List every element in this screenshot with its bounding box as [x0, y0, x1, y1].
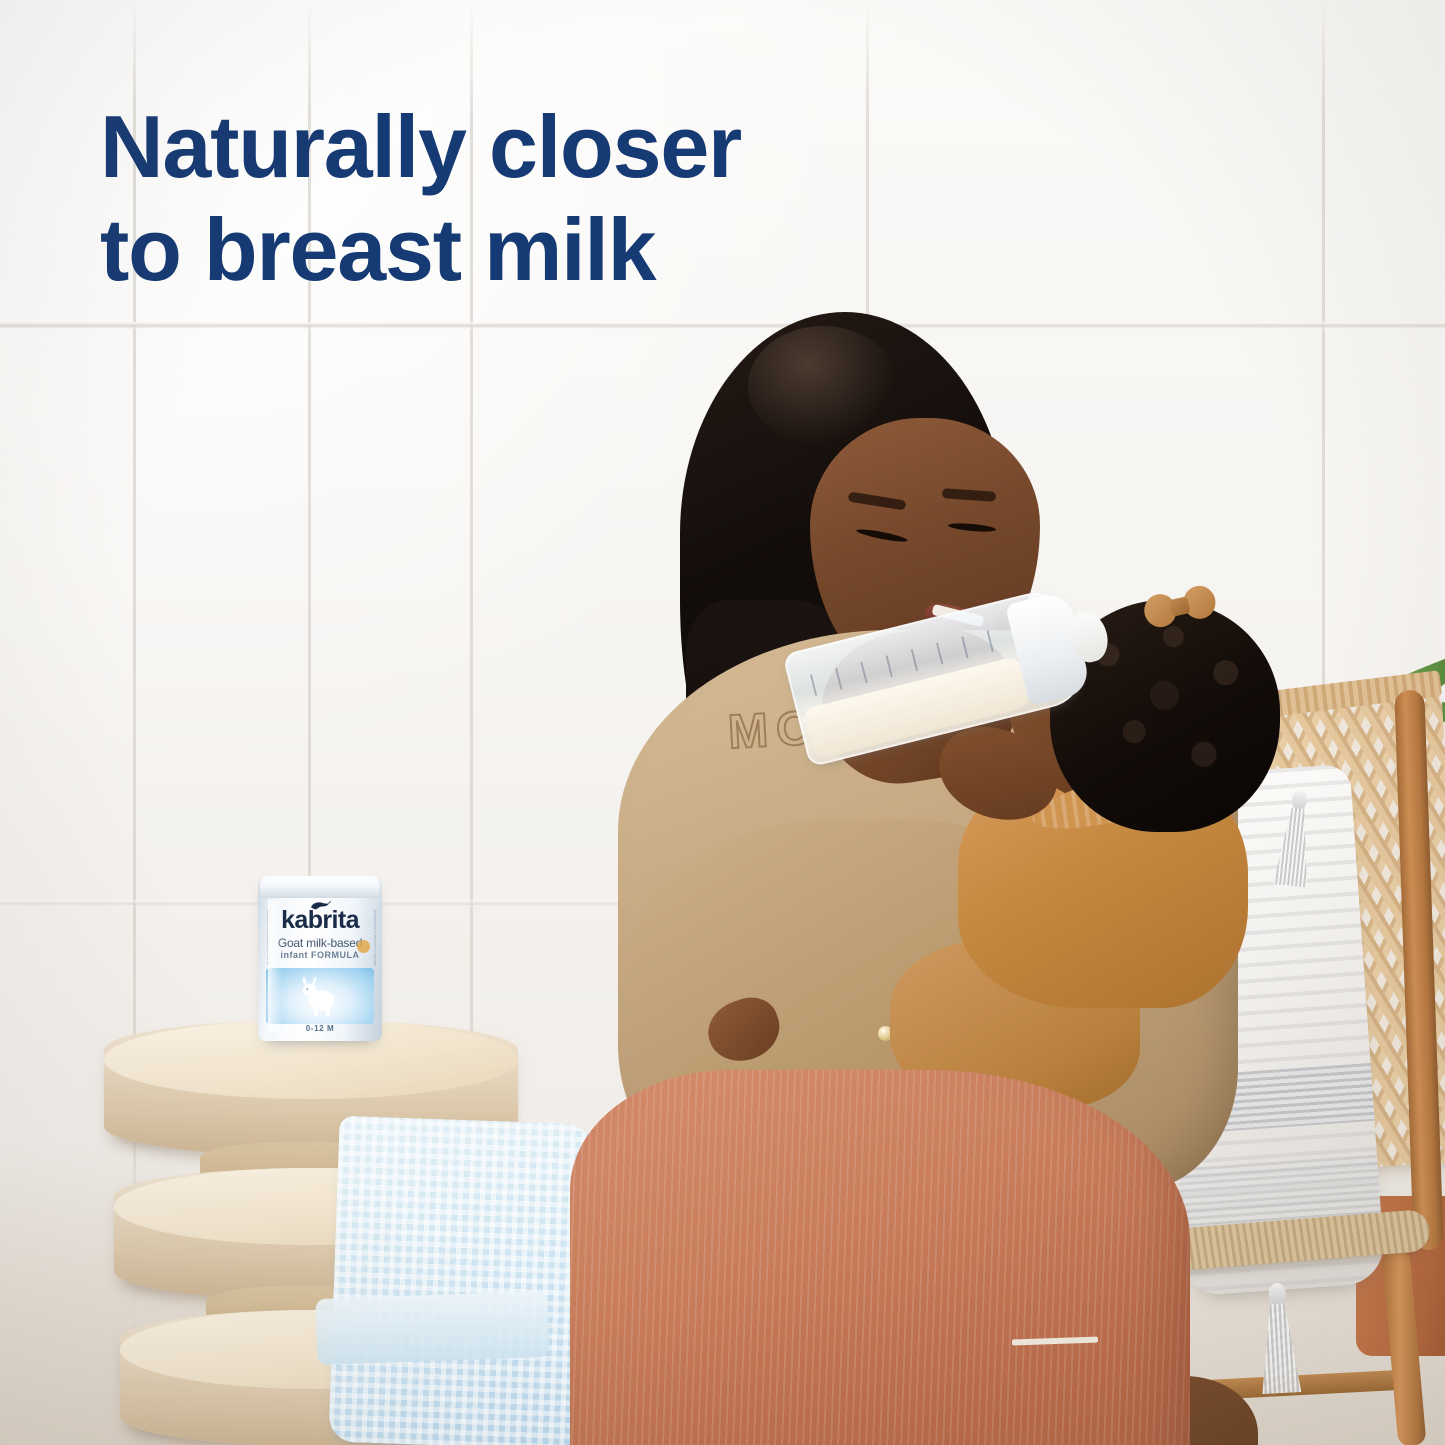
page-title: Naturally closer to breast milk: [100, 96, 741, 302]
blue-waffle-blanket: [328, 1116, 595, 1445]
can-highlight: [268, 900, 282, 1031]
can-illustration-panel: [266, 968, 374, 1024]
can-lid: [259, 876, 381, 898]
product-lifestyle-ad: Naturally closer to breast milk MOTHER: [0, 0, 1445, 1445]
mother-and-baby: MOTHER: [560, 300, 1320, 1445]
mother-skirt: [570, 1070, 1190, 1445]
certification-badge-icon: [357, 940, 370, 953]
blanket-fold: [315, 1291, 549, 1365]
goat-illustration-icon: [297, 975, 343, 1017]
formula-can: nutrition information per 100 ml prepara…: [258, 876, 382, 1041]
